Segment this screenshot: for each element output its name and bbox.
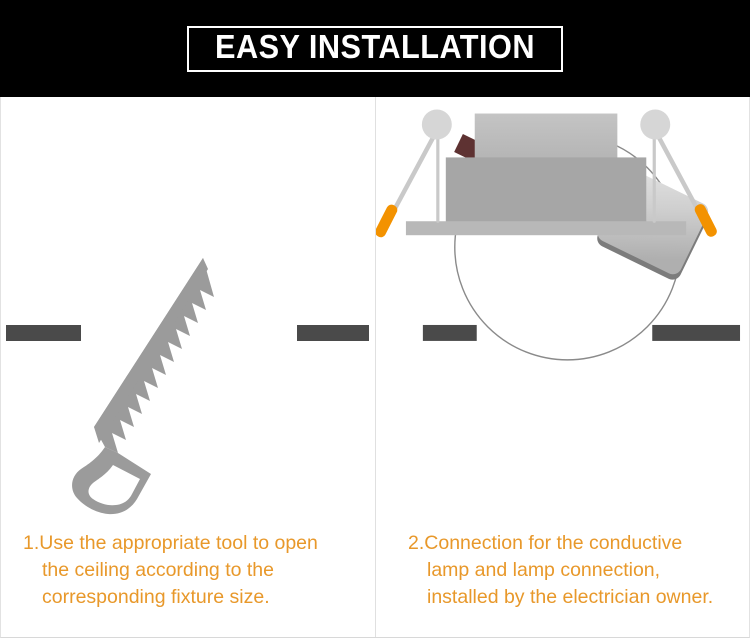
panel-step-2: 2.Connection for the conductive lamp and…: [375, 97, 749, 637]
spring-clip-icon: [376, 110, 452, 239]
fixture-body: [446, 157, 646, 223]
caption-step-1: 1.Use the appropriate tool to open the c…: [1, 530, 375, 611]
title-border-box: EASY INSTALLATION: [187, 26, 563, 72]
header-banner: EASY INSTALLATION: [0, 0, 750, 97]
installation-instruction-graphic: EASY INSTALLATION: [0, 0, 750, 638]
saw-illustration: [1, 97, 375, 527]
caption-number: 1.: [23, 532, 39, 554]
spring-clip-pivot: [422, 110, 452, 140]
spring-clip-tip: [376, 203, 399, 239]
page-title: EASY INSTALLATION: [215, 30, 535, 64]
caption-line: lamp and lamp connection,: [408, 557, 741, 584]
caption-number: 2.: [408, 532, 424, 554]
caption-line: 2.Connection for the conductive: [408, 530, 741, 557]
caption-line: the ceiling according to the: [23, 557, 359, 584]
fixture-top-box: [475, 114, 618, 159]
ceiling-bar-icon: [423, 325, 740, 341]
spring-clip-pivot: [640, 110, 670, 140]
caption-line: installed by the electrician owner.: [408, 584, 741, 611]
caption-step-2: 2.Connection for the conductive lamp and…: [376, 530, 749, 611]
panel-step-1: 1.Use the appropriate tool to open the c…: [1, 97, 375, 637]
caption-line: corresponding fixture size.: [23, 584, 359, 611]
panels-container: 1.Use the appropriate tool to open the c…: [0, 97, 750, 638]
saw-icon: [72, 258, 214, 514]
caption-line: 1.Use the appropriate tool to open: [23, 530, 359, 557]
fixture-flange: [406, 221, 686, 235]
wire-connection-illustration: [376, 97, 749, 527]
